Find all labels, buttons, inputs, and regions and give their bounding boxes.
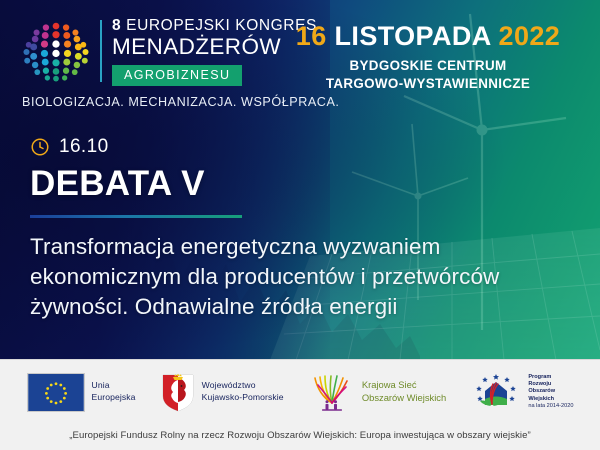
footer-logo-prow: Program Rozwoju Obszarów Wiejskich na la… <box>471 372 573 412</box>
footer-logo-prow-caption-line5: na lata 2014-2020 <box>528 403 573 410</box>
event-date-year: 2022 <box>499 21 561 51</box>
footer-logo-ksow-caption-line1: Krajowa Sieć <box>362 379 446 392</box>
session-time: 16.10 <box>59 136 109 158</box>
footer-logo-prow-caption-line1: Program <box>528 374 573 381</box>
prow-emblem-icon <box>471 372 521 412</box>
footer-logo-prow-caption-line2: Rozwoju <box>528 381 573 388</box>
clock-icon <box>30 137 50 157</box>
event-date-month: LISTOPADA <box>335 21 491 51</box>
eu-fund-caption: „Europejski Fundusz Rolny na rzecz Rozwo… <box>0 430 600 441</box>
footer-logo-strip: Unia Europejska Województwo Kuj <box>0 366 600 418</box>
footer-logo-prow-caption-line3: Obszarów <box>528 388 573 395</box>
footer-logo-voivodeship-caption-line1: Województwo <box>202 380 284 392</box>
footer-logo-ksow-caption: Krajowa Sieć Obszarów Wiejskich <box>362 379 446 404</box>
congress-logo: 8 EUROPEJSKI KONGRES MENADŻERÓW AGROBIZN… <box>20 16 317 88</box>
footer-logo-eu: Unia Europejska <box>27 373 136 412</box>
event-poster: 8 EUROPEJSKI KONGRES MENADŻERÓW AGROBIZN… <box>0 0 600 450</box>
session-time-row: 16.10 <box>30 136 109 158</box>
footer-logo-voivodeship-caption: Województwo Kujawsko-Pomorskie <box>202 380 284 403</box>
event-date-day: 16 <box>296 21 327 51</box>
kujawsko-pomorskie-coat-of-arms-icon <box>161 372 195 412</box>
session-subject: Transformacja energetyczna wyzwaniem eko… <box>30 232 578 322</box>
agrobiznesu-badge: AGROBIZNESU <box>112 65 242 86</box>
poster-footer: Unia Europejska Województwo Kuj <box>0 359 600 450</box>
eu-flag-icon <box>27 373 85 412</box>
footer-logo-eu-caption-line2: Europejska <box>92 392 136 404</box>
footer-logo-ksow-caption-line2: Obszarów Wiejskich <box>362 392 446 405</box>
session-title: DEBATA V <box>30 164 205 204</box>
session-divider-rule <box>30 215 242 218</box>
ksow-fan-icon <box>309 372 355 412</box>
poster-header: 8 EUROPEJSKI KONGRES MENADŻERÓW AGROBIZN… <box>0 0 600 115</box>
logo-divider <box>100 20 102 82</box>
event-venue-line2: TARGOWO-WYSTAWIENNICZE <box>278 75 578 92</box>
footer-logo-voivodeship: Województwo Kujawsko-Pomorskie <box>161 372 284 412</box>
congress-edition-number: 8 <box>112 17 121 34</box>
event-venue-line1: BYDGOSKIE CENTRUM <box>278 57 578 74</box>
event-date: 16 LISTOPADA 2022 <box>278 22 578 50</box>
footer-logo-voivodeship-caption-line2: Kujawsko-Pomorskie <box>202 392 284 404</box>
congress-tagline: BIOLOGIZACJA. MECHANIZACJA. WSPÓŁPRACA. <box>22 95 339 109</box>
event-date-venue: 16 LISTOPADA 2022 BYDGOSKIE CENTRUM TARG… <box>278 22 578 92</box>
footer-logo-eu-caption-line1: Unia <box>92 380 136 392</box>
footer-logo-ksow: Krajowa Sieć Obszarów Wiejskich <box>309 372 446 412</box>
footer-logo-prow-caption: Program Rozwoju Obszarów Wiejskich na la… <box>528 374 573 411</box>
footer-logo-prow-caption-line4: Wiejskich <box>528 396 573 403</box>
colorful-sphere-logo-icon <box>20 16 92 88</box>
footer-logo-eu-caption: Unia Europejska <box>92 380 136 403</box>
event-venue: BYDGOSKIE CENTRUM TARGOWO-WYSTAWIENNICZE <box>278 57 578 92</box>
